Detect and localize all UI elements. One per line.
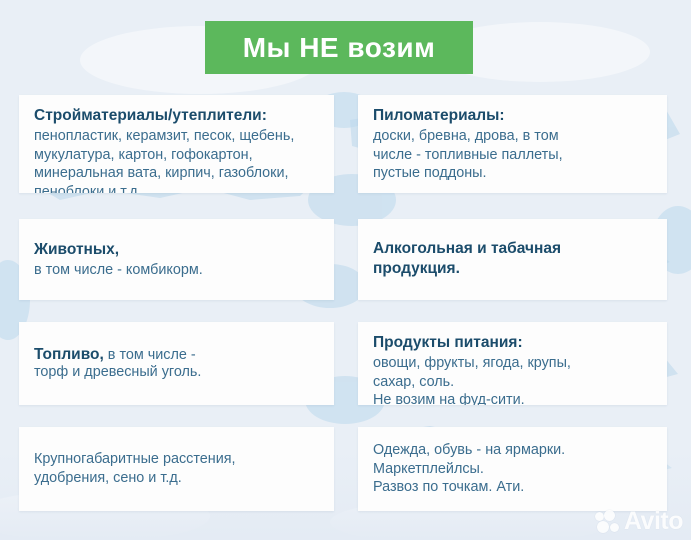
header-banner: Мы НЕ возим: [205, 21, 473, 74]
card-food-products: Продукты питания: овощи, фрукты, ягода, …: [358, 322, 667, 405]
card-body: Крупногабаритные расстения, удобрения, с…: [34, 450, 321, 487]
card-clothing-marketplaces: Одежда, обувь - на ярмарки. Маркетплейлс…: [358, 427, 667, 511]
avito-logo-icon: [595, 510, 621, 534]
card-body: Одежда, обувь - на ярмарки. Маркетплейлс…: [373, 441, 654, 497]
card-title: Стройматериалы/утеплители:: [34, 106, 321, 126]
page-title: Мы НЕ возим: [243, 34, 436, 62]
card-alcohol-tobacco: Алкогольная и табачная продукция.: [358, 219, 667, 300]
card-title: Продукты питания:: [373, 333, 654, 353]
card-title-line: Топливо, в том числе -: [34, 346, 321, 364]
avito-watermark: Avito: [595, 509, 683, 534]
card-body: пенопластик, керамзит, песок, щебень, му…: [34, 127, 321, 193]
card-body: доски, бревна, дрова, в том числе - топл…: [373, 127, 654, 183]
card-construction-materials: Стройматериалы/утеплители: пенопластик, …: [19, 95, 334, 193]
card-title: Топливо,: [34, 346, 104, 363]
card-fuel: Топливо, в том числе - торф и древесный …: [19, 322, 334, 405]
restrictions-grid: Стройматериалы/утеплители: пенопластик, …: [19, 95, 667, 511]
card-title-suffix: в том числе -: [104, 347, 196, 363]
card-lumber: Пиломатериалы: доски, бревна, дрова, в т…: [358, 95, 667, 193]
card-oversized-plants: Крупногабаритные расстения, удобрения, с…: [19, 427, 334, 511]
card-animals: Животных, в том числе - комбикорм.: [19, 219, 334, 300]
card-title: Пиломатериалы:: [373, 106, 654, 126]
card-title: Животных,: [34, 240, 321, 260]
poster-root: Мы НЕ возим Стройматериалы/утеплители: п…: [0, 0, 691, 540]
card-body: в том числе - комбикорм.: [34, 261, 321, 280]
card-title: Алкогольная и табачная продукция.: [373, 239, 654, 279]
avito-watermark-label: Avito: [624, 509, 683, 534]
card-body: торф и древесный уголь.: [34, 364, 321, 382]
card-body: овощи, фрукты, ягода, крупы, сахар, соль…: [373, 354, 654, 405]
